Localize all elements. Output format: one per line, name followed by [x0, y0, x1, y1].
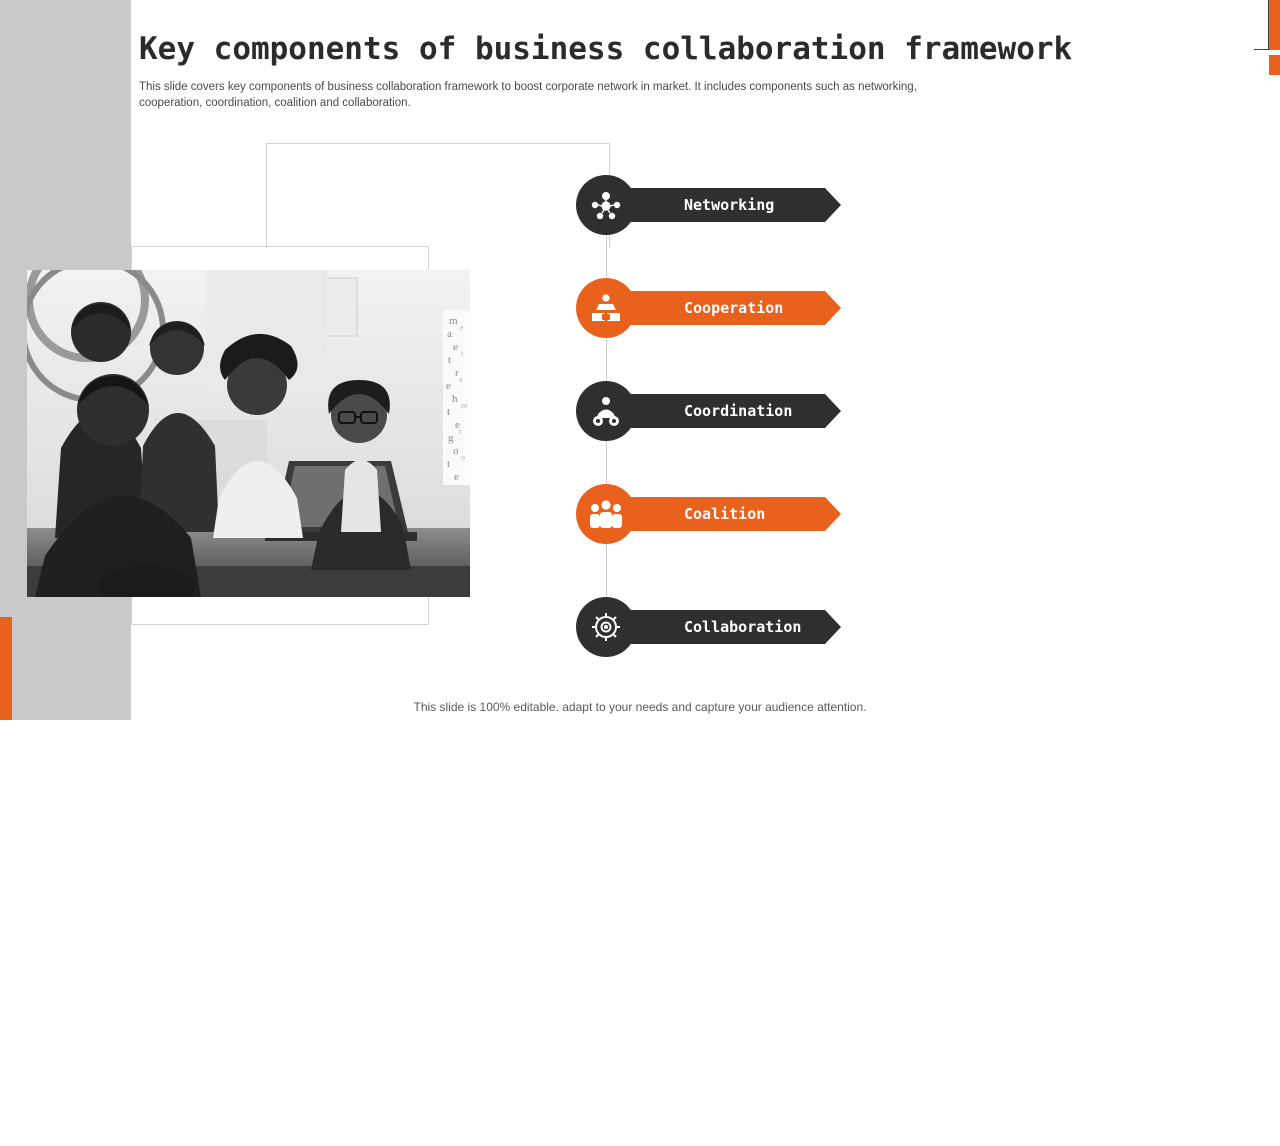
right-orange-accent-top: [1269, 0, 1280, 50]
svg-text:g: g: [448, 432, 454, 444]
right-orange-accent-bottom: [1269, 55, 1280, 75]
component-label: Collaboration: [684, 610, 801, 644]
svg-text:o: o: [461, 453, 465, 462]
component-banner-cooperation[interactable]: Cooperation: [622, 291, 841, 325]
component-banner-coalition[interactable]: Coalition: [622, 497, 841, 531]
svg-text:a: a: [459, 375, 463, 384]
svg-text:r: r: [459, 427, 462, 436]
footer-note: This slide is 100% editable. adapt to yo…: [0, 700, 1280, 714]
right-horizontal-rule: [1254, 49, 1269, 50]
svg-text:t: t: [448, 354, 451, 366]
svg-text:e: e: [454, 471, 459, 483]
page-subtitle: This slide covers key components of busi…: [139, 79, 969, 111]
component-banner-coordination[interactable]: Coordination: [622, 394, 841, 428]
component-label: Networking: [684, 188, 774, 222]
component-label: Coalition: [684, 497, 765, 531]
component-label: Coordination: [684, 394, 792, 428]
svg-text:e: e: [460, 323, 464, 332]
svg-text:a: a: [447, 328, 452, 340]
decorative-frame-top: [266, 143, 610, 248]
svg-text:e: e: [446, 380, 451, 392]
svg-text:t: t: [447, 458, 450, 470]
component-banner-collaboration[interactable]: Collaboration: [622, 610, 841, 644]
svg-text:h: h: [452, 393, 458, 405]
svg-text:m: m: [461, 401, 468, 410]
svg-text:m: m: [449, 315, 458, 327]
component-label: Cooperation: [684, 291, 783, 325]
right-vertical-rule: [1268, 0, 1269, 50]
svg-text:e: e: [453, 341, 458, 353]
component-banner-networking[interactable]: Networking: [622, 188, 841, 222]
page-title: Key components of business collaboration…: [139, 31, 919, 67]
team-photo: [27, 270, 470, 597]
word-collage-decoration: mae tre hte got e eta mro: [443, 310, 471, 485]
svg-text:o: o: [453, 445, 459, 457]
svg-text:t: t: [447, 406, 450, 418]
